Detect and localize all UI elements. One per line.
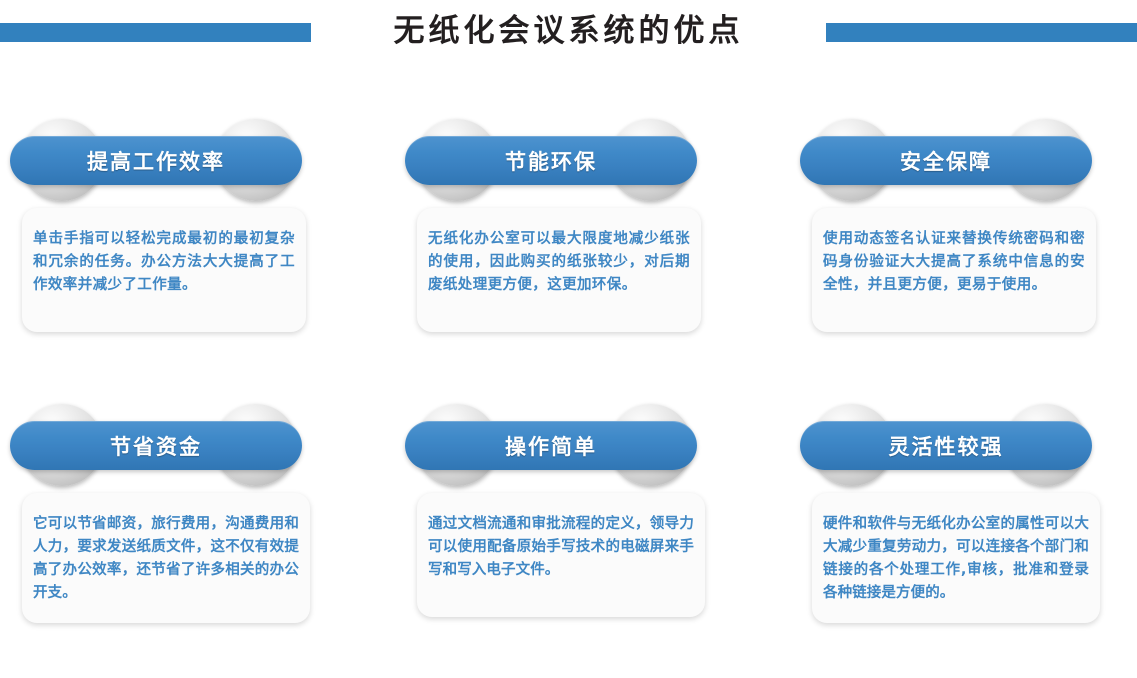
card-title: 节能环保 [505, 146, 597, 176]
card-title: 灵活性较强 [889, 431, 1004, 461]
card-title: 操作简单 [505, 431, 597, 461]
card-body-text: 通过文档流通和审批流程的定义，领导力可以使用配备原始手写技术的电磁屏来手写和写入… [428, 513, 694, 582]
card-title-pill[interactable]: 操作简单 [405, 421, 697, 470]
card-row-bottom: 节省资金 它可以节省邮资，旅行费用，沟通费用和人力，要求发送纸质文件，这不仅有效… [0, 393, 1137, 678]
card-title-pill[interactable]: 提高工作效率 [10, 136, 302, 185]
benefit-card[interactable]: 灵活性较强 硬件和软件与无纸化办公室的属性可以大大减少重复劳动力，可以连接各个部… [790, 393, 1120, 497]
benefit-card-grid: 提高工作效率 单击手指可以轻松完成最初的最初复杂和冗余的任务。办公方法大大提高了… [0, 108, 1137, 678]
card-body-text: 它可以节省邮资，旅行费用，沟通费用和人力，要求发送纸质文件，这不仅有效提高了办公… [33, 513, 299, 605]
card-body-panel: 使用动态签名认证来替换传统密码和密码身份验证大大提高了系统中信息的安全性，并且更… [812, 208, 1096, 332]
card-body-panel: 通过文档流通和审批流程的定义，领导力可以使用配备原始手写技术的电磁屏来手写和写入… [417, 493, 705, 617]
benefit-card[interactable]: 提高工作效率 单击手指可以轻松完成最初的最初复杂和冗余的任务。办公方法大大提高了… [0, 108, 330, 212]
card-title: 安全保障 [900, 146, 992, 176]
card-title: 节省资金 [110, 431, 202, 461]
card-body-text: 单击手指可以轻松完成最初的最初复杂和冗余的任务。办公方法大大提高了工作效率并减少… [33, 228, 295, 297]
card-header[interactable]: 节省资金 [0, 393, 330, 497]
card-header[interactable]: 灵活性较强 [790, 393, 1120, 497]
card-body-text: 无纸化办公室可以最大限度地减少纸张的使用，因此购买的纸张较少，对后期废纸处理更方… [428, 228, 690, 297]
card-body-text: 使用动态签名认证来替换传统密码和密码身份验证大大提高了系统中信息的安全性，并且更… [823, 228, 1085, 297]
page-header: 无纸化会议系统的优点 [0, 0, 1137, 70]
card-title-pill[interactable]: 节省资金 [10, 421, 302, 470]
benefit-card[interactable]: 操作简单 通过文档流通和审批流程的定义，领导力可以使用配备原始手写技术的电磁屏来… [395, 393, 725, 497]
card-header[interactable]: 安全保障 [790, 108, 1120, 212]
card-body-text: 硬件和软件与无纸化办公室的属性可以大大减少重复劳动力，可以连接各个部门和链接的各… [823, 513, 1089, 605]
card-header[interactable]: 操作简单 [395, 393, 725, 497]
header-rule-right [826, 23, 1137, 42]
card-body-panel: 单击手指可以轻松完成最初的最初复杂和冗余的任务。办公方法大大提高了工作效率并减少… [22, 208, 306, 332]
card-body-panel: 它可以节省邮资，旅行费用，沟通费用和人力，要求发送纸质文件，这不仅有效提高了办公… [22, 493, 310, 623]
card-title: 提高工作效率 [87, 146, 225, 176]
card-title-pill[interactable]: 安全保障 [800, 136, 1092, 185]
benefit-card[interactable]: 节省资金 它可以节省邮资，旅行费用，沟通费用和人力，要求发送纸质文件，这不仅有效… [0, 393, 330, 497]
card-title-pill[interactable]: 灵活性较强 [800, 421, 1092, 470]
benefit-card[interactable]: 节能环保 无纸化办公室可以最大限度地减少纸张的使用，因此购买的纸张较少，对后期废… [395, 108, 725, 212]
card-header[interactable]: 提高工作效率 [0, 108, 330, 212]
benefit-card[interactable]: 安全保障 使用动态签名认证来替换传统密码和密码身份验证大大提高了系统中信息的安全… [790, 108, 1120, 212]
card-row-top: 提高工作效率 单击手指可以轻松完成最初的最初复杂和冗余的任务。办公方法大大提高了… [0, 108, 1137, 393]
card-header[interactable]: 节能环保 [395, 108, 725, 212]
card-body-panel: 硬件和软件与无纸化办公室的属性可以大大减少重复劳动力，可以连接各个部门和链接的各… [812, 493, 1100, 623]
card-body-panel: 无纸化办公室可以最大限度地减少纸张的使用，因此购买的纸张较少，对后期废纸处理更方… [417, 208, 701, 332]
card-title-pill[interactable]: 节能环保 [405, 136, 697, 185]
